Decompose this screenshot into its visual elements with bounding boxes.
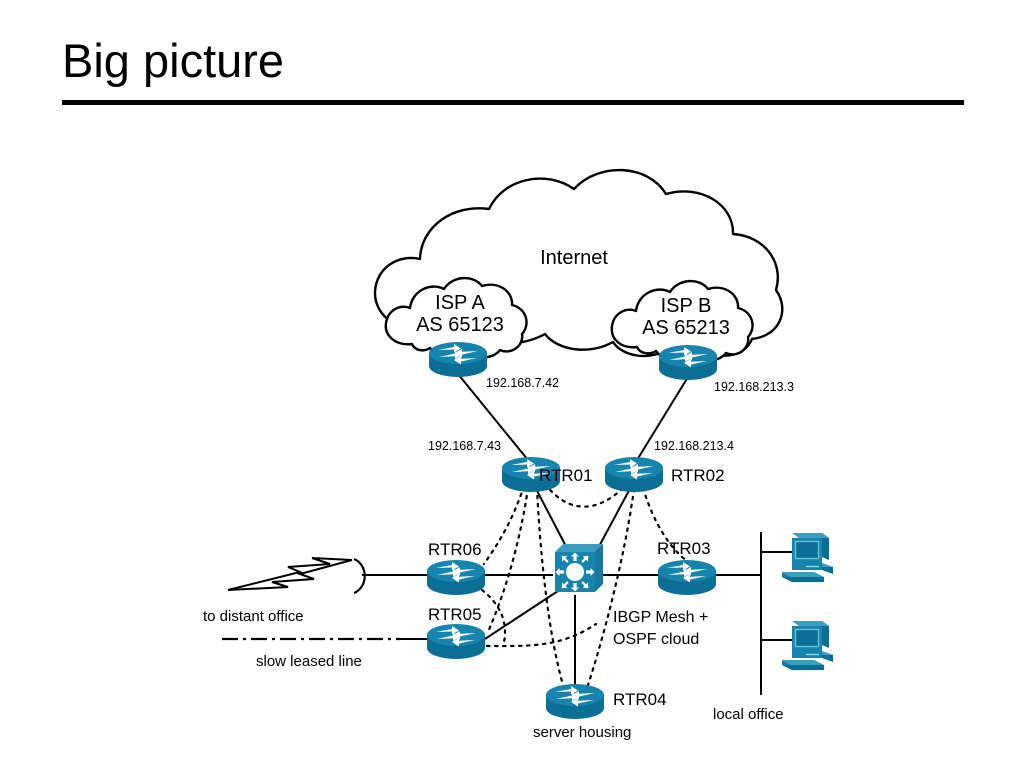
rtr04[interactable] [546, 684, 604, 719]
isp-b-label-line2: AS 65213 [642, 317, 730, 339]
core-switch[interactable] [555, 544, 603, 592]
rtr01-label: RTR01 [539, 466, 593, 485]
rtr04-label: RTR04 [613, 690, 667, 709]
distant-office-link [228, 558, 365, 593]
mesh-rtr01-rtr06 [484, 486, 524, 564]
slide: Big picture [0, 0, 1024, 768]
isp-a-label-line2: AS 65123 [416, 314, 504, 336]
local-office-note: local office [713, 706, 784, 723]
title-underline [62, 100, 964, 105]
rtr06[interactable] [427, 560, 485, 595]
server-housing-note: server housing [533, 724, 631, 741]
rtr02-label: RTR02 [671, 466, 725, 485]
mesh-note-line2: OSPF cloud [613, 631, 699, 648]
page-title: Big picture [62, 36, 284, 85]
distant-office-note: to distant office [203, 608, 304, 625]
link-rtr01-switch [534, 485, 569, 552]
network-diagram: Internet ISP A AS 65123 ISP B AS 65213 [0, 112, 1024, 768]
mesh-rtr01-rtr05 [488, 488, 528, 632]
workstation-2[interactable] [782, 621, 833, 670]
isp-a-router[interactable] [429, 342, 487, 377]
rtr03-label: RTR03 [657, 539, 711, 558]
isp-b-router[interactable] [659, 345, 717, 380]
ip-rtr01: 192.168.7.43 [428, 439, 501, 453]
isp-b-label-line1: ISP B [661, 295, 712, 317]
rtr02[interactable] [605, 457, 663, 492]
isp-a-label-line1: ISP A [435, 292, 485, 314]
ip-isp-b-uplink: 192.168.213.3 [714, 380, 794, 394]
workstation-1[interactable] [782, 533, 833, 582]
rtr03[interactable] [658, 560, 716, 595]
ip-rtr02: 192.168.213.4 [654, 439, 734, 453]
rtr05-label: RTR05 [428, 605, 482, 624]
internet-cloud-label: Internet [540, 247, 608, 269]
mesh-note-line1: IBGP Mesh + [613, 609, 708, 626]
ip-isp-a-uplink: 192.168.7.42 [486, 376, 559, 390]
rtr05[interactable] [427, 624, 485, 659]
slow-leased-line-note: slow leased line [256, 653, 362, 670]
rtr06-label: RTR06 [428, 540, 482, 559]
